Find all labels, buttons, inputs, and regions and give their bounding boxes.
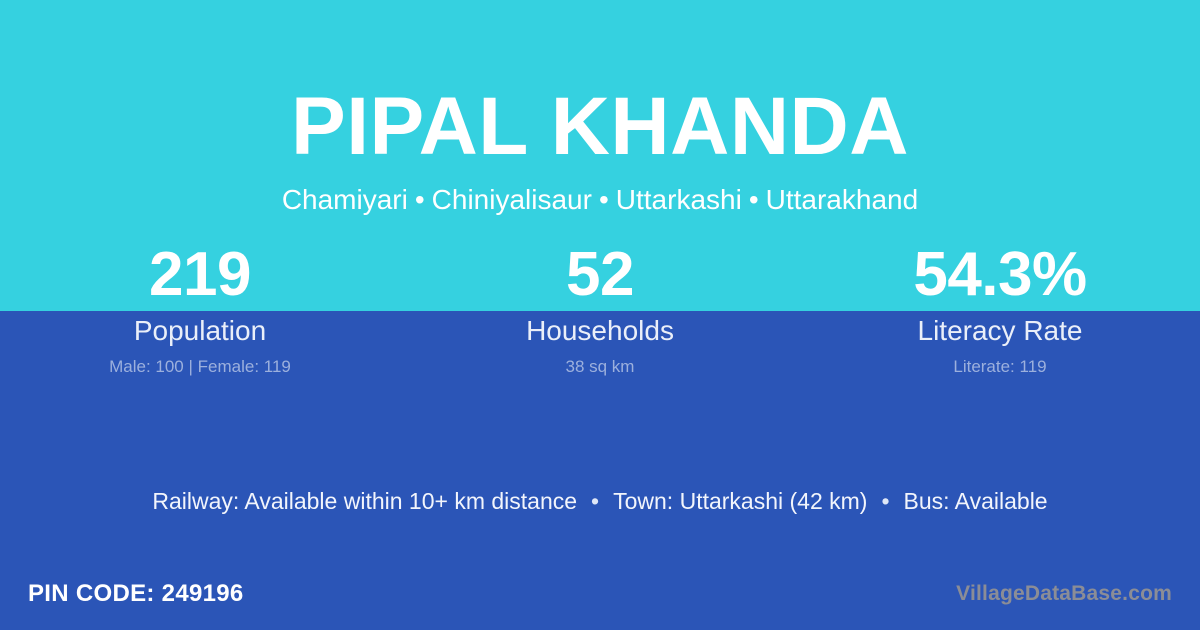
- breadcrumb-item-district: Uttarkashi: [616, 184, 742, 215]
- stat-sublabel: Literate: 119: [800, 356, 1200, 378]
- stat-sublabel: Male: 100 | Female: 119: [0, 356, 400, 378]
- stat-literacy-rate: 54.3% Literacy Rate Literate: 119: [800, 240, 1200, 378]
- stat-population: 219 Population Male: 100 | Female: 119: [0, 240, 400, 378]
- site-watermark: VillageDataBase.com: [956, 580, 1172, 608]
- facility-bus: Bus: Available: [904, 488, 1048, 514]
- page-title: PIPAL KHANDA: [0, 82, 1200, 172]
- breadcrumb-separator: •: [592, 184, 616, 215]
- breadcrumb-item-state: Uttarakhand: [766, 184, 919, 215]
- village-info-card: PIPAL KHANDA Chamiyari•Chiniyalisaur•Utt…: [0, 0, 1200, 630]
- stat-sublabel: 38 sq km: [400, 356, 800, 378]
- stat-value: 54.3%: [800, 240, 1200, 310]
- stat-value: 52: [400, 240, 800, 310]
- facility-separator: •: [577, 488, 613, 514]
- stat-label: Literacy Rate: [800, 314, 1200, 348]
- breadcrumb-separator: •: [408, 184, 432, 215]
- stat-label: Households: [400, 314, 800, 348]
- stat-households: 52 Households 38 sq km: [400, 240, 800, 378]
- breadcrumb: Chamiyari•Chiniyalisaur•Uttarkashi•Uttar…: [0, 182, 1200, 218]
- stat-label: Population: [0, 314, 400, 348]
- stat-value: 219: [0, 240, 400, 310]
- facility-railway: Railway: Available within 10+ km distanc…: [152, 488, 577, 514]
- footer: PIN CODE: 249196 VillageDataBase.com: [0, 558, 1200, 630]
- stats-row: 219 Population Male: 100 | Female: 119 5…: [0, 240, 1200, 378]
- facility-town: Town: Uttarkashi (42 km): [613, 488, 867, 514]
- facility-separator: •: [867, 488, 903, 514]
- breadcrumb-item-block: Chiniyalisaur: [432, 184, 592, 215]
- breadcrumb-item-village: Chamiyari: [282, 184, 408, 215]
- breadcrumb-separator: •: [742, 184, 766, 215]
- facilities-line: Railway: Available within 10+ km distanc…: [0, 485, 1200, 517]
- pin-code: PIN CODE: 249196: [28, 579, 244, 609]
